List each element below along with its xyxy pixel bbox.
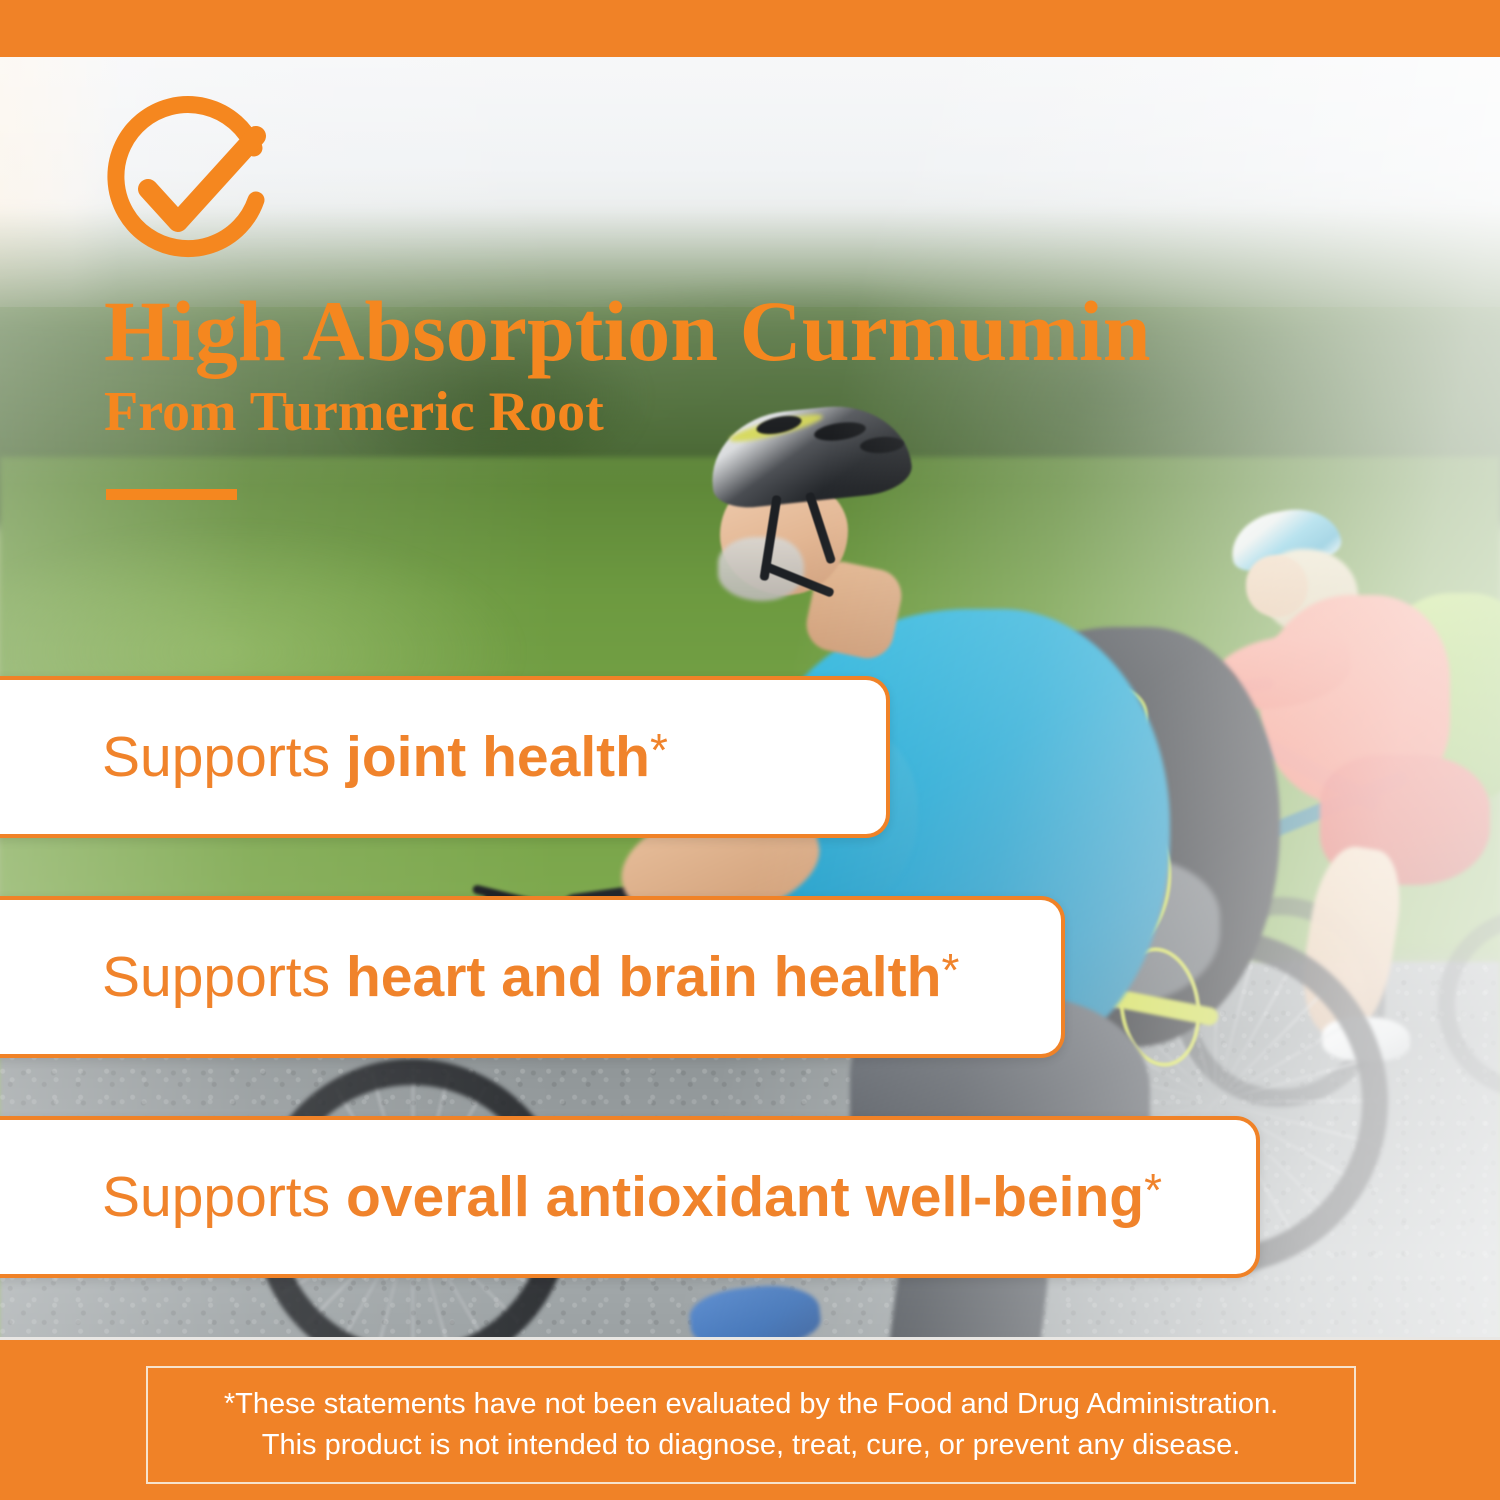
benefit-asterisk-1: * [650, 724, 668, 776]
benefit-asterisk-2: * [941, 944, 959, 996]
benefit-prefix-2: Supports [102, 945, 346, 1009]
benefit-asterisk-3: * [1144, 1164, 1162, 1216]
benefit-text-2: Supports heart and brain health* [0, 946, 959, 1008]
benefit-card-3[interactable]: Supports overall antioxidant well-being* [0, 1116, 1260, 1278]
benefit-card-2[interactable]: Supports heart and brain health* [0, 896, 1065, 1058]
title-divider [106, 489, 237, 500]
benefit-emphasis-1: joint health [346, 725, 650, 789]
page-title: High Absorption Curmumin [104, 288, 1500, 374]
top-orange-bar [0, 0, 1500, 57]
benefit-card-1[interactable]: Supports joint health* [0, 676, 890, 838]
disclaimer-box: *These statements have not been evaluate… [146, 1366, 1356, 1484]
page-subtitle: From Turmeric Root [104, 384, 604, 440]
benefit-prefix-3: Supports [102, 1165, 346, 1229]
benefit-emphasis-3: overall antioxidant well-being [346, 1165, 1144, 1229]
disclaimer-line-1: *These statements have not been evaluate… [224, 1384, 1278, 1425]
benefit-emphasis-2: heart and brain health [346, 945, 941, 1009]
product-infographic: High Absorption Curmumin From Turmeric R… [0, 0, 1500, 1500]
benefit-text-1: Supports joint health* [0, 726, 668, 788]
check-circle-icon [104, 96, 280, 268]
disclaimer-line-2: This product is not intended to diagnose… [262, 1425, 1241, 1466]
benefit-prefix-1: Supports [102, 725, 346, 789]
benefit-text-3: Supports overall antioxidant well-being* [0, 1166, 1162, 1228]
